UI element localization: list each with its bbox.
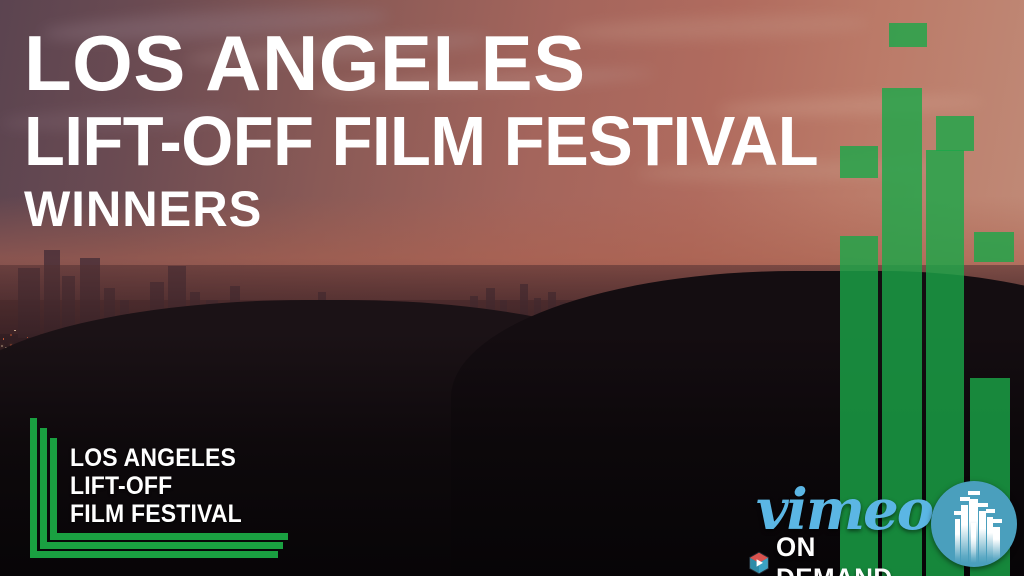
badge-building	[979, 511, 986, 563]
badge-building	[955, 519, 960, 563]
logo-text-line-2: LIFT-OFF	[70, 472, 242, 500]
badge-building-cap	[986, 509, 995, 513]
bar-3-cap	[936, 116, 974, 151]
logo-text-line-3: FILM FESTIVAL	[70, 500, 242, 528]
badge-building-cap	[960, 497, 970, 501]
city-skyline-icon	[931, 481, 1017, 567]
headline-line-3: WINNERS	[24, 184, 906, 234]
headline-block: LOS ANGELES LIFT-OFF FILM FESTIVAL WINNE…	[24, 28, 924, 234]
headline-line-2: LIFT-OFF FILM FESTIVAL	[24, 106, 884, 176]
vimeo-cube-play-icon	[748, 551, 770, 575]
city-light	[14, 330, 15, 331]
logo-text: LOS ANGELES LIFT-OFF FILM FESTIVAL	[70, 444, 242, 528]
badge-building	[993, 527, 1000, 563]
badge-building	[971, 523, 976, 563]
badge-building-cap	[968, 491, 980, 495]
bar-4-cap	[974, 232, 1014, 262]
badge-building-cap	[970, 515, 978, 519]
headline-line-1: LOS ANGELES	[24, 28, 924, 100]
vimeo-on-demand-logo: vimeo ON DEMAND	[748, 484, 926, 564]
title-card: LOS ANGELES LIFT-OFF FILM FESTIVAL WINNE…	[0, 0, 1024, 576]
festival-logo: LOS ANGELES LIFT-OFF FILM FESTIVAL	[30, 418, 292, 566]
badge-building-cap	[954, 511, 962, 515]
badge-building-cap	[978, 503, 988, 507]
vimeo-wordmark: vimeo	[756, 482, 932, 538]
badge-building	[961, 505, 968, 563]
bar-2-cap	[889, 23, 927, 47]
on-demand-row: ON DEMAND	[748, 532, 926, 576]
logo-text-line-1: LOS ANGELES	[70, 444, 242, 472]
badge-building-cap	[992, 519, 1002, 523]
on-demand-label: ON DEMAND	[776, 532, 920, 576]
